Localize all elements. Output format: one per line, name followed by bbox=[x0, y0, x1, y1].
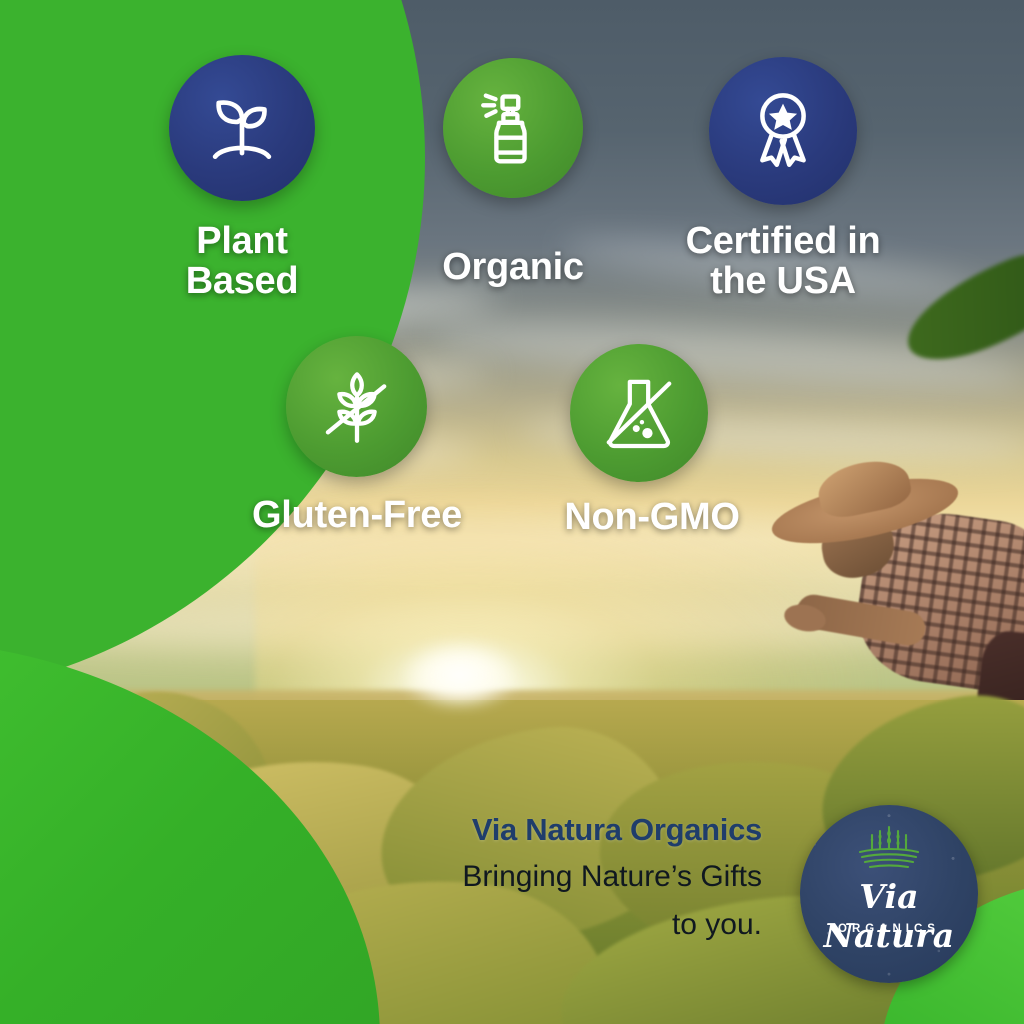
badge-label-line1: Organic bbox=[398, 248, 628, 288]
brand-logo[interactable]: Via Natura ORGANICS bbox=[800, 805, 978, 983]
wheat-field-rows-icon bbox=[852, 821, 926, 873]
badge-plant-based[interactable] bbox=[169, 55, 315, 201]
badge-label-line2: the USA bbox=[636, 262, 930, 302]
logo-script-text: Via Natura bbox=[800, 877, 978, 955]
badge-label-line1: Gluten-Free bbox=[197, 496, 517, 536]
sprout-icon bbox=[199, 85, 285, 171]
badge-label-gluten-free: Gluten-Free bbox=[197, 496, 517, 536]
spray-bottle-icon bbox=[471, 86, 555, 170]
wheat-slashed-icon bbox=[312, 362, 402, 452]
badge-label-line1: Plant bbox=[150, 222, 334, 262]
tagline-line1: Bringing Nature’s Gifts bbox=[462, 860, 762, 894]
tagline-line2: to you. bbox=[672, 908, 762, 942]
badge-label-certified-usa: Certified in the USA bbox=[636, 222, 930, 301]
sun-core bbox=[400, 640, 520, 710]
award-ribbon-icon bbox=[738, 86, 828, 176]
badge-label-non-gmo: Non-GMO bbox=[527, 498, 777, 538]
flask-slashed-icon bbox=[595, 369, 683, 457]
badge-gluten-free[interactable] bbox=[286, 336, 427, 477]
badge-label-plant-based: Plant Based bbox=[150, 222, 334, 301]
badge-label-line2: Based bbox=[150, 262, 334, 302]
logo-mark bbox=[852, 821, 926, 878]
badge-label-line1: Non-GMO bbox=[527, 498, 777, 538]
badge-label-line1: Certified in bbox=[636, 222, 930, 262]
logo-subtitle: ORGANICS bbox=[800, 923, 978, 935]
badge-label-organic: Organic bbox=[398, 248, 628, 288]
promo-graphic: Plant Based Organic Certified in the USA bbox=[0, 0, 1024, 1024]
badge-organic[interactable] bbox=[443, 58, 583, 198]
badge-certified-usa[interactable] bbox=[709, 57, 857, 205]
badge-non-gmo[interactable] bbox=[570, 344, 708, 482]
brand-name: Via Natura Organics bbox=[472, 812, 762, 848]
